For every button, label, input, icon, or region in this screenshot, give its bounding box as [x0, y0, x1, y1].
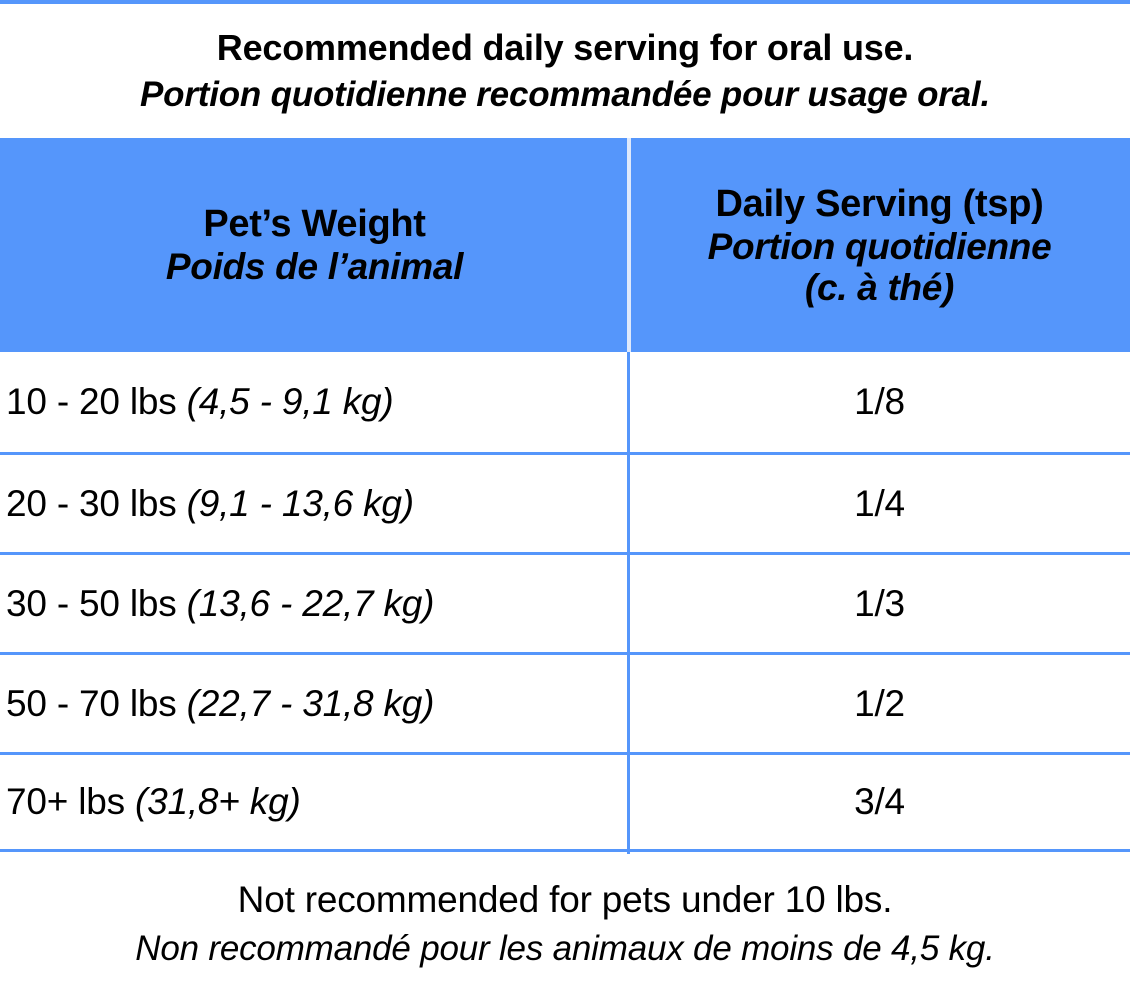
weight-pounds: 20 - 30 lbs — [6, 483, 177, 525]
column-header-daily-serving-french-line1: Portion quotidienne — [708, 226, 1052, 267]
table-row: 10 - 20 lbs (4,5 - 9,1 kg) 1/8 — [0, 352, 1130, 452]
cell-pets-weight: 20 - 30 lbs (9,1 - 13,6 kg) — [0, 455, 629, 552]
cell-pets-weight: 10 - 20 lbs (4,5 - 9,1 kg) — [0, 352, 629, 452]
intro-line-french: Portion quotidienne recommandée pour usa… — [140, 74, 990, 115]
weight-kilograms: (4,5 - 9,1 kg) — [187, 381, 394, 423]
table-header-row: Pet’s Weight Poids de l’animal Daily Ser… — [0, 138, 1130, 352]
weight-kilograms: (31,8+ kg) — [135, 781, 301, 823]
footer-line-english: Not recommended for pets under 10 lbs. — [238, 878, 893, 922]
cell-daily-serving: 1/8 — [629, 352, 1130, 452]
column-header-pets-weight-french: Poids de l’animal — [166, 246, 463, 287]
cell-daily-serving: 1/4 — [629, 455, 1130, 552]
intro-block: Recommended daily serving for oral use. … — [0, 4, 1130, 138]
table-row: 30 - 50 lbs (13,6 - 22,7 kg) 1/3 — [0, 552, 1130, 652]
table-row: 70+ lbs (31,8+ kg) 3/4 — [0, 752, 1130, 852]
weight-pounds: 30 - 50 lbs — [6, 583, 177, 625]
cell-daily-serving: 1/2 — [629, 655, 1130, 752]
column-header-daily-serving: Daily Serving (tsp) Portion quotidienne … — [629, 138, 1130, 352]
weight-pounds: 70+ lbs — [6, 781, 125, 823]
header-column-divider — [627, 138, 631, 352]
dosage-table: Pet’s Weight Poids de l’animal Daily Ser… — [0, 138, 1130, 854]
weight-kilograms: (22,7 - 31,8 kg) — [187, 683, 435, 725]
column-header-pets-weight-english: Pet’s Weight — [203, 202, 425, 246]
table-body: 10 - 20 lbs (4,5 - 9,1 kg) 1/8 20 - 30 l… — [0, 352, 1130, 852]
column-header-daily-serving-english: Daily Serving (tsp) — [716, 182, 1044, 226]
table-row: 50 - 70 lbs (22,7 - 31,8 kg) 1/2 — [0, 652, 1130, 752]
weight-kilograms: (13,6 - 22,7 kg) — [187, 583, 435, 625]
body-column-divider — [627, 352, 630, 854]
intro-line-english: Recommended daily serving for oral use. — [217, 27, 913, 69]
footer-note: Not recommended for pets under 10 lbs. N… — [0, 854, 1130, 994]
table-row: 20 - 30 lbs (9,1 - 13,6 kg) 1/4 — [0, 452, 1130, 552]
weight-pounds: 10 - 20 lbs — [6, 381, 177, 423]
cell-daily-serving: 3/4 — [629, 755, 1130, 849]
column-header-daily-serving-french-line2: (c. à thé) — [805, 267, 954, 308]
weight-pounds: 50 - 70 lbs — [6, 683, 177, 725]
cell-pets-weight: 30 - 50 lbs (13,6 - 22,7 kg) — [0, 555, 629, 652]
column-header-pets-weight: Pet’s Weight Poids de l’animal — [0, 138, 629, 352]
cell-daily-serving: 1/3 — [629, 555, 1130, 652]
weight-kilograms: (9,1 - 13,6 kg) — [187, 483, 414, 525]
serving-chart: Recommended daily serving for oral use. … — [0, 0, 1130, 994]
footer-line-french: Non recommandé pour les animaux de moins… — [135, 928, 994, 970]
cell-pets-weight: 50 - 70 lbs (22,7 - 31,8 kg) — [0, 655, 629, 752]
cell-pets-weight: 70+ lbs (31,8+ kg) — [0, 755, 629, 849]
